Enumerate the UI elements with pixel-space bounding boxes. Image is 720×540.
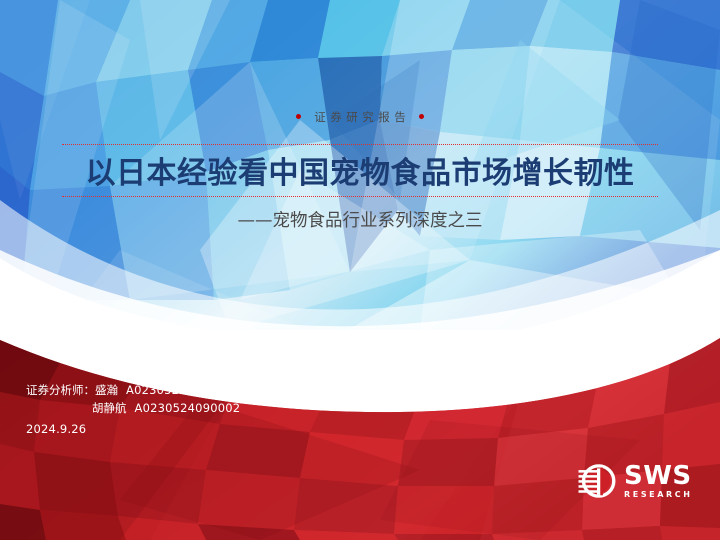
red-dot-icon-left (296, 114, 301, 119)
sws-research-logo: SWS RESEARCH (576, 460, 693, 502)
analyst-license-code: A0230522080006 (126, 383, 232, 397)
analyst-info-block: 证券分析师：盛瀚A0230522080006 胡静航A0230524090002… (26, 381, 240, 438)
report-kicker: 证券研究报告 (0, 106, 720, 125)
analyst-label: 证券分析师： (26, 383, 95, 397)
analyst-row: 证券分析师：盛瀚A0230522080006 (26, 381, 240, 399)
research-tagline: RESEARCH (624, 491, 693, 499)
sws-circle-mark-icon (576, 460, 618, 502)
report-subtitle: ——宠物食品行业系列深度之三 (0, 209, 720, 233)
dotted-rule-below-title (62, 196, 658, 197)
cover-background-artwork (0, 0, 720, 540)
report-title: 以日本经验看中国宠物食品市场增长韧性 (0, 155, 720, 193)
analyst-name: 胡静航 (92, 401, 127, 415)
analyst-row: 胡静航A0230524090002 (26, 399, 240, 417)
analyst-name: 盛瀚 (95, 383, 118, 397)
analyst-license-code: A0230524090002 (135, 401, 241, 415)
red-dot-icon-right (419, 114, 424, 119)
kicker-label: 证券研究报告 (310, 109, 411, 125)
sws-wordmark: SWS (624, 463, 692, 489)
report-date: 2024.9.26 (26, 420, 240, 438)
dotted-rule-above-title (62, 144, 658, 145)
report-cover-slide: 证券研究报告 以日本经验看中国宠物食品市场增长韧性 ——宠物食品行业系列深度之三… (0, 0, 720, 540)
